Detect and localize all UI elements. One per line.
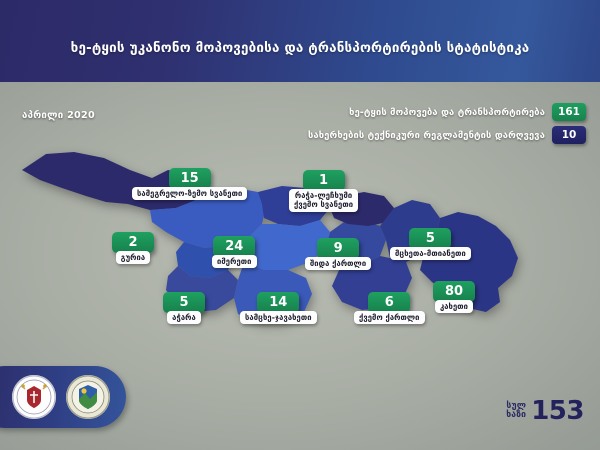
logo-panel: [0, 366, 126, 428]
marker-label-guria: გურია: [116, 251, 150, 264]
marker-label-racha: რაჭა-ლეჩხუმიქვემო სვანეთი: [289, 189, 358, 212]
marker-label-imereti: იმერეთი: [212, 255, 257, 268]
marker-count-guria: 2: [112, 232, 154, 253]
map-svg: [0, 130, 600, 380]
environmental-supervision-icon: [66, 375, 110, 419]
marker-count-kvemo-kartli: 6: [368, 292, 410, 313]
marker-guria[interactable]: 2 გურია: [112, 232, 154, 264]
marker-count-racha: 1: [303, 170, 345, 191]
total-label: სულ ხაზი: [506, 402, 526, 421]
header-banner: ხე-ტყის უკანონო მოპოვებისა და ტრანსპორტი…: [0, 0, 600, 82]
marker-count-samtskhe: 14: [257, 292, 299, 313]
marker-count-achara: 5: [163, 292, 205, 313]
date-label: აპრილი 2020: [22, 110, 95, 121]
marker-samtskhe[interactable]: 14 სამცხე-ჯავახეთი: [240, 292, 317, 324]
marker-kakheti[interactable]: 80 კახეთი: [433, 281, 475, 313]
marker-count-samegrelo: 15: [169, 168, 211, 189]
page-title: ხე-ტყის უკანონო მოპოვებისა და ტრანსპორტი…: [71, 27, 530, 56]
marker-label-samtskhe: სამცხე-ჯავახეთი: [240, 311, 317, 324]
marker-racha[interactable]: 1 რაჭა-ლეჩხუმიქვემო სვანეთი: [289, 170, 358, 212]
marker-label-achara: აჭარა: [167, 311, 201, 324]
marker-mtskheta[interactable]: 5 მცხეთა-მთიანეთი: [390, 228, 471, 260]
supervision-emblem-svg: [66, 375, 110, 419]
marker-samegrelo[interactable]: 15 სამეგრელო-ზემო სვანეთი: [132, 168, 247, 200]
legend-value-logging: 161: [552, 103, 586, 121]
coat-of-arms-svg: [12, 375, 56, 419]
marker-count-mtskheta: 5: [409, 228, 451, 249]
georgia-region-map: [0, 130, 600, 380]
marker-label-mtskheta: მცხეთა-მთიანეთი: [390, 247, 471, 260]
marker-label-samegrelo: სამეგრელო-ზემო სვანეთი: [132, 187, 247, 200]
georgia-coat-of-arms-icon: [12, 375, 56, 419]
marker-label-shida-kartli: შიდა ქართლი: [305, 257, 371, 270]
marker-count-imereti: 24: [213, 236, 255, 257]
marker-imereti[interactable]: 24 იმერეთი: [212, 236, 257, 268]
total-value: 153: [531, 396, 584, 426]
marker-label-kvemo-kartli: ქვემო ქართლი: [354, 311, 425, 324]
marker-kvemo-kartli[interactable]: 6 ქვემო ქართლი: [354, 292, 425, 324]
legend-label-logging: ხე-ტყის მოპოვება და ტრანსპორტირება: [349, 107, 545, 118]
legend-row-logging: ხე-ტყის მოპოვება და ტრანსპორტირება 161: [349, 103, 586, 121]
marker-shida-kartli[interactable]: 9 შიდა ქართლი: [305, 238, 371, 270]
marker-count-shida-kartli: 9: [317, 238, 359, 259]
total-block: სულ ხაზი 153: [506, 396, 584, 426]
infographic-poster: ხე-ტყის უკანონო მოპოვებისა და ტრანსპორტი…: [0, 0, 600, 450]
marker-count-kakheti: 80: [433, 281, 475, 302]
total-label-line2: ხაზი: [506, 410, 526, 420]
marker-label-kakheti: კახეთი: [435, 300, 473, 313]
marker-achara[interactable]: 5 აჭარა: [163, 292, 205, 324]
